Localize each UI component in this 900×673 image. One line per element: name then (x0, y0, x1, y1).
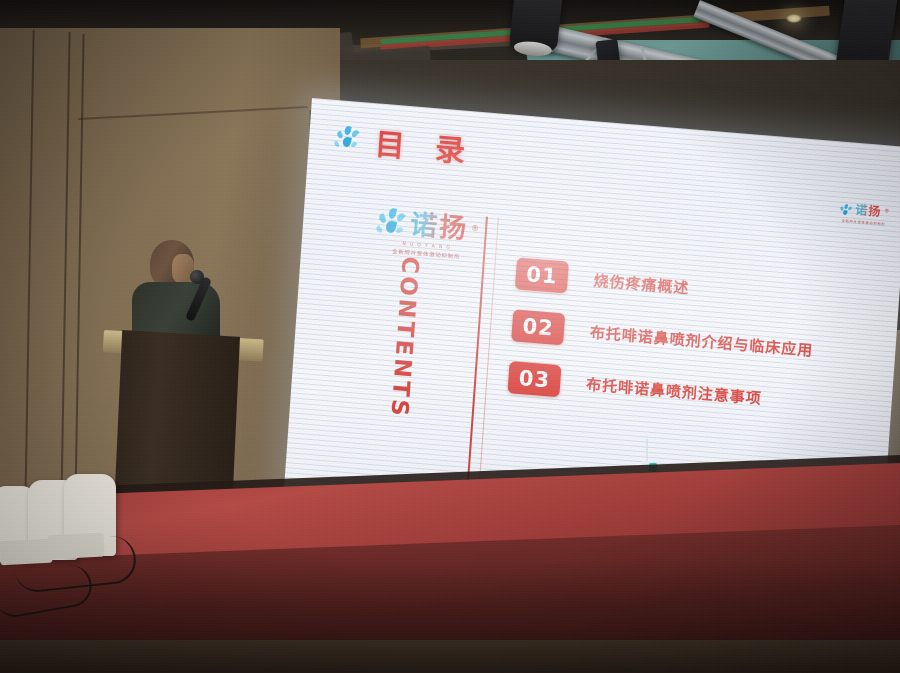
toc-number-badge: 02 (511, 309, 565, 345)
slide-title: 目 录 (373, 119, 476, 171)
water-droplet-burst-icon (334, 125, 362, 153)
registered-trademark-icon: ® (471, 223, 480, 233)
conference-photo-scene: 目 录 诺扬 ® (0, 0, 900, 673)
water-droplet-burst-icon (839, 204, 853, 218)
floor (0, 640, 900, 673)
toc-item-label: 布托啡诺鼻喷剂介绍与临床应用 (589, 321, 814, 360)
toc-number-badge: 03 (507, 361, 561, 397)
water-droplet-burst-icon (376, 207, 408, 239)
toc-item-label: 烧伤疼痛概述 (593, 269, 690, 298)
table-of-contents: 01 烧伤疼痛概述 02 布托啡诺鼻喷剂介绍与临床应用 03 布托啡诺鼻喷剂注意… (507, 257, 818, 417)
toc-number-badge: 01 (515, 257, 569, 293)
brand-logo: 诺扬 ® N U O Y A N G 全新阿片受体激动抑制剂 (375, 200, 481, 262)
contents-vertical-label: CONTENTS (385, 255, 423, 419)
slide-title-row: 目 录 (334, 116, 477, 171)
toc-item-label: 布托啡诺鼻喷剂注意事项 (586, 373, 763, 408)
stage-light-fixture (509, 0, 563, 52)
corner-brand-name: 诺扬 (855, 201, 882, 220)
registered-trademark-icon: ® (884, 208, 889, 214)
divider-line-secondary (478, 218, 499, 499)
slide-corner-logo: 诺扬 ® 全新阿片受体激动抑制剂 (838, 200, 889, 227)
toc-item[interactable]: 01 烧伤疼痛概述 (515, 257, 818, 314)
toc-item[interactable]: 02 布托啡诺鼻喷剂介绍与临床应用 (511, 309, 814, 366)
brand-logo-row: 诺扬 ® (376, 200, 480, 247)
ceiling-downlight (786, 14, 802, 23)
brand-name: 诺扬 (409, 203, 470, 247)
toc-item[interactable]: 03 布托啡诺鼻喷剂注意事项 (507, 361, 810, 418)
microphone-head-icon (190, 270, 204, 284)
